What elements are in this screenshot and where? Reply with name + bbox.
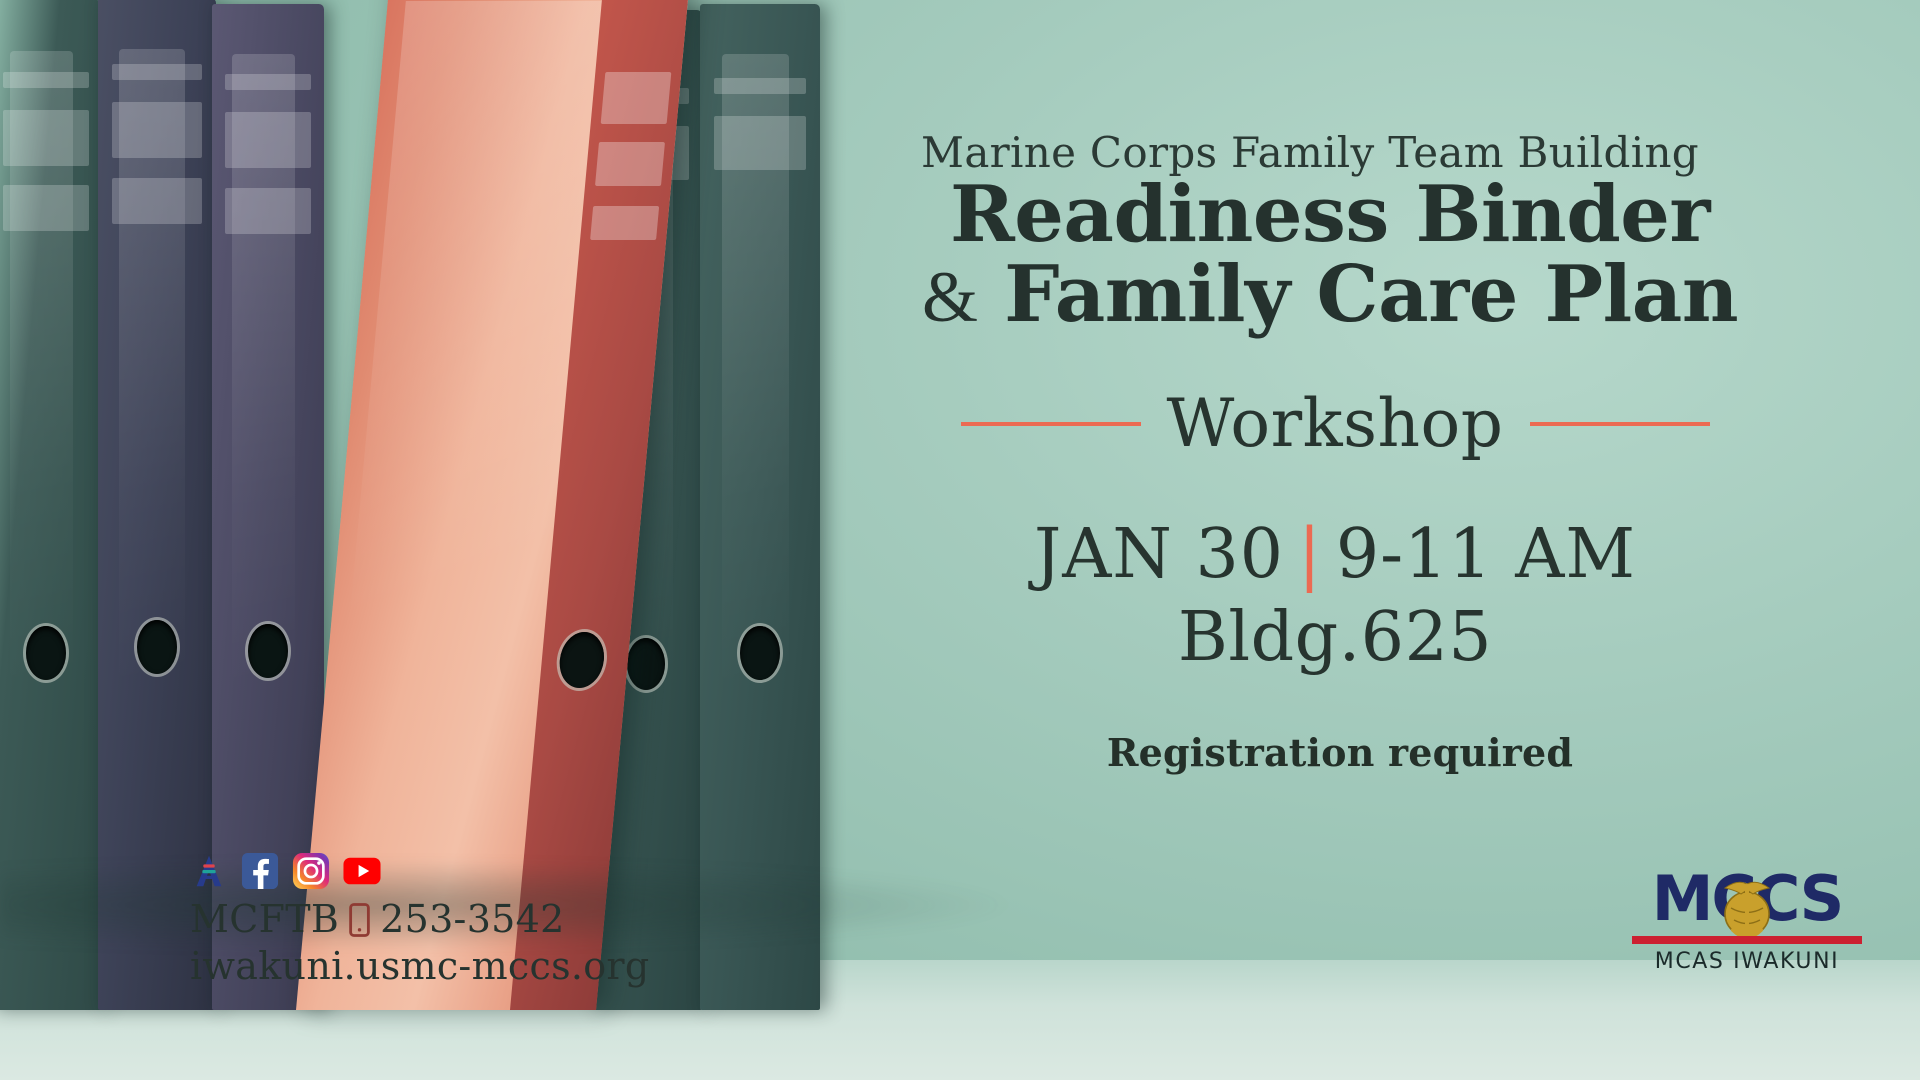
binder-label-strip [590,206,659,240]
binder-hole [248,624,288,678]
org-abbreviation: MCFTB [190,898,339,942]
binder-hole [740,626,780,680]
subtitle-text: Workshop [1167,385,1504,462]
binder-hole [137,620,177,674]
binder-label-strip [595,142,665,186]
binder-label-strip [714,78,805,94]
page-title: Readiness Binder & Family Care Plan [820,175,1840,336]
event-datetime: JAN 30|9-11 AM [820,515,1850,594]
datetime-separator: | [1284,515,1336,594]
mccs-logo: MCCS MCAS IWAKUNI [1622,858,1872,976]
contact-block: MCFTB 253-3542 iwakuni.usmc-mccs.org [190,852,650,988]
binder-hole [26,626,66,680]
poster-canvas: Marine Corps Family Team Building Readin… [0,0,1920,1080]
binder-label-strip [3,110,88,166]
title-line-1: Readiness Binder [950,169,1710,260]
binder-label-strip [112,64,202,80]
subtitle-row: Workshop [820,385,1850,462]
facebook-icon[interactable] [241,852,279,890]
mobile-phone-icon [349,903,370,937]
binder-label-strip [112,102,202,158]
binder-label-strip [601,72,672,124]
phone-line: MCFTB 253-3542 [190,898,650,942]
logo-red-bar [1632,936,1862,944]
binder-teal-1 [0,0,102,1010]
binder-label-strip [3,72,88,88]
ampersand-glyph: & [922,257,978,337]
binder-label-strip [225,74,310,90]
social-icon-row [190,852,650,890]
registration-note: Registration required [820,730,1860,775]
website-url[interactable]: iwakuni.usmc-mccs.org [190,944,650,988]
mccs-logo-mark: MCCS MCAS IWAKUNI [1622,858,1872,976]
youtube-icon[interactable] [343,852,381,890]
binder-hole [627,638,665,690]
title-line-2: Family Care Plan [1004,249,1738,340]
event-location: Bldg.625 [820,598,1850,677]
binder-label-strip [112,178,202,224]
binder-label-strip [225,188,310,234]
mccs-app-icon[interactable] [190,852,228,890]
event-time: 9-11 AM [1336,515,1636,594]
binder-label-strip [3,185,88,231]
divider-rule-right [1530,422,1710,426]
binder-label-strip [714,116,805,170]
binder-label-strip [225,112,310,168]
phone-number[interactable]: 253-3542 [380,898,564,942]
event-date: JAN 30 [1034,515,1284,594]
divider-rule-left [961,422,1141,426]
instagram-icon[interactable] [292,852,330,890]
logo-tagline: MCAS IWAKUNI [1655,949,1840,974]
